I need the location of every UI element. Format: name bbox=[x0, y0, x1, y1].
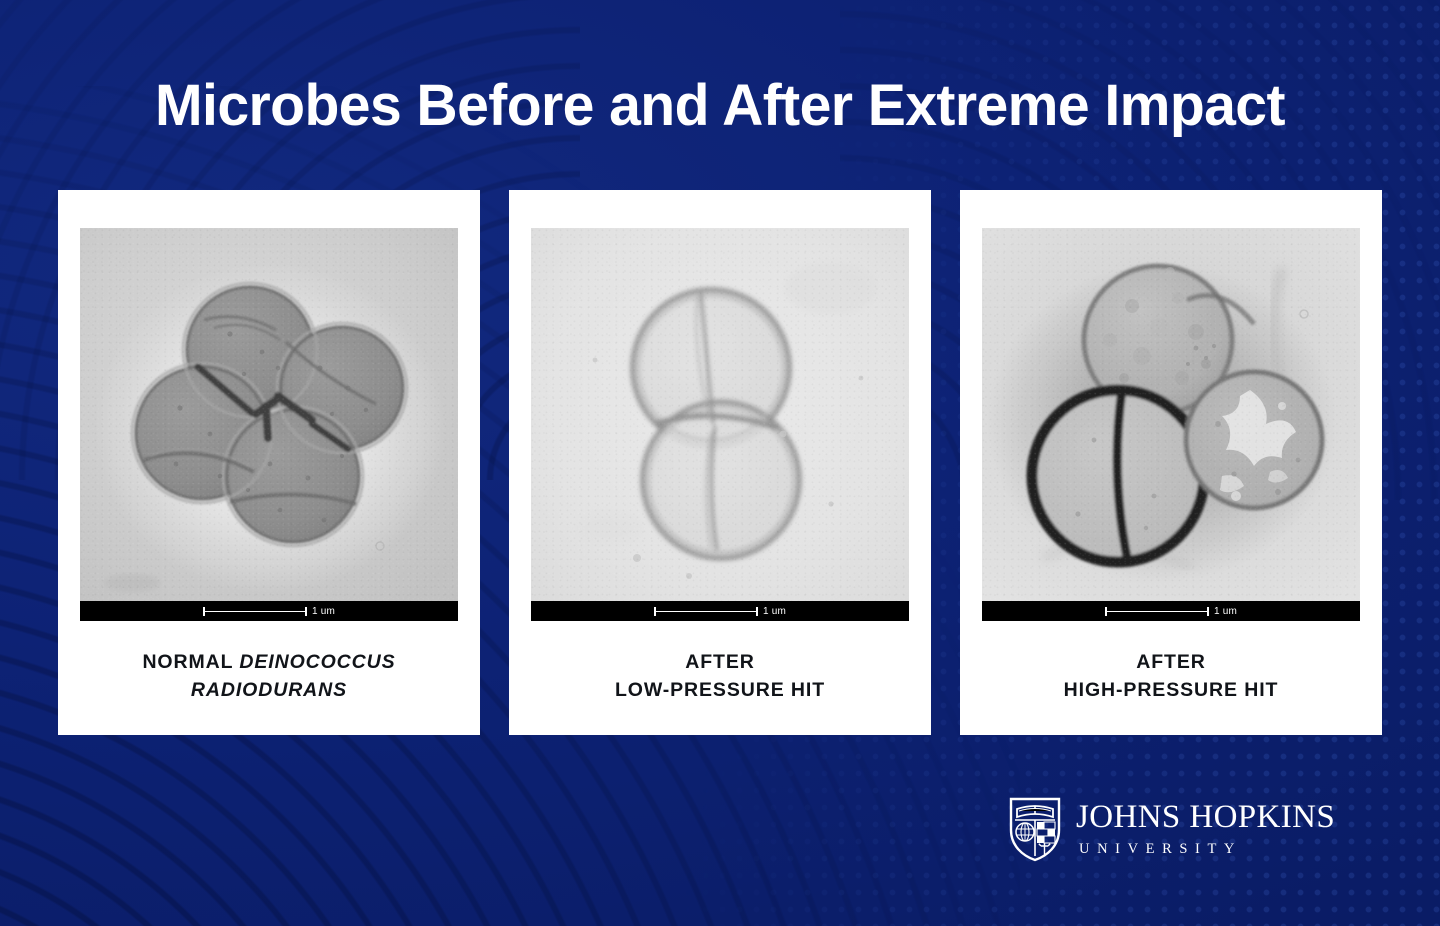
jhu-logo-name: JOHNS HOPKINS bbox=[1076, 801, 1335, 834]
micrograph-low-pressure: 1 um bbox=[531, 228, 909, 621]
scale-bar-high-pressure: 1 um bbox=[982, 601, 1360, 621]
micrograph-normal: 1 um bbox=[80, 228, 458, 621]
scale-bar-label: 1 um bbox=[763, 606, 786, 617]
micrograph-normal-svg bbox=[80, 228, 458, 601]
caption-normal: NORMAL DEINOCOCCUS RADIODURANS bbox=[142, 649, 395, 704]
micrograph-low-pressure-svg bbox=[531, 228, 909, 601]
micrograph-normal-image bbox=[80, 228, 458, 601]
panel-row: 1 um NORMAL DEINOCOCCUS RADIODURANS bbox=[58, 190, 1382, 735]
caption-high-pressure-line2: HIGH-PRESSURE HIT bbox=[1064, 679, 1279, 701]
micrograph-low-pressure-image bbox=[531, 228, 909, 601]
scale-bar-label: 1 um bbox=[1214, 606, 1237, 617]
jhu-wordmark: JOHNS HOPKINS UNIVERSITY bbox=[1076, 801, 1335, 858]
panel-normal: 1 um NORMAL DEINOCOCCUS RADIODURANS bbox=[58, 190, 480, 735]
scale-bar-label: 1 um bbox=[312, 606, 335, 617]
micrograph-high-pressure: 1 um bbox=[982, 228, 1360, 621]
jhu-shield-icon bbox=[1008, 796, 1062, 862]
scale-bar-line bbox=[654, 611, 758, 612]
micrograph-high-pressure-svg bbox=[982, 228, 1360, 601]
caption-high-pressure-line1: AFTER bbox=[1136, 651, 1206, 673]
scale-bar-line bbox=[1105, 611, 1209, 612]
page-title: Microbes Before and After Extreme Impact bbox=[11, 72, 1429, 139]
caption-low-pressure: AFTER LOW-PRESSURE HIT bbox=[615, 649, 825, 704]
caption-high-pressure: AFTER HIGH-PRESSURE HIT bbox=[1064, 649, 1279, 704]
caption-low-pressure-line1: AFTER bbox=[685, 651, 755, 673]
caption-normal-line2-italic: RADIODURANS bbox=[191, 679, 347, 701]
caption-normal-line1-plain: NORMAL bbox=[142, 651, 239, 673]
caption-low-pressure-line2: LOW-PRESSURE HIT bbox=[615, 679, 825, 701]
scale-bar-low-pressure: 1 um bbox=[531, 601, 909, 621]
panel-high-pressure: 1 um AFTER HIGH-PRESSURE HIT bbox=[960, 190, 1382, 735]
jhu-logo-subtitle: UNIVERSITY bbox=[1079, 841, 1335, 858]
caption-normal-line1-italic: DEINOCOCCUS bbox=[239, 651, 395, 673]
micrograph-high-pressure-image bbox=[982, 228, 1360, 601]
panel-low-pressure: 1 um AFTER LOW-PRESSURE HIT bbox=[509, 190, 931, 735]
jhu-logo: JOHNS HOPKINS UNIVERSITY bbox=[1008, 796, 1335, 862]
scale-bar-normal: 1 um bbox=[80, 601, 458, 621]
scale-bar-line bbox=[203, 611, 307, 612]
